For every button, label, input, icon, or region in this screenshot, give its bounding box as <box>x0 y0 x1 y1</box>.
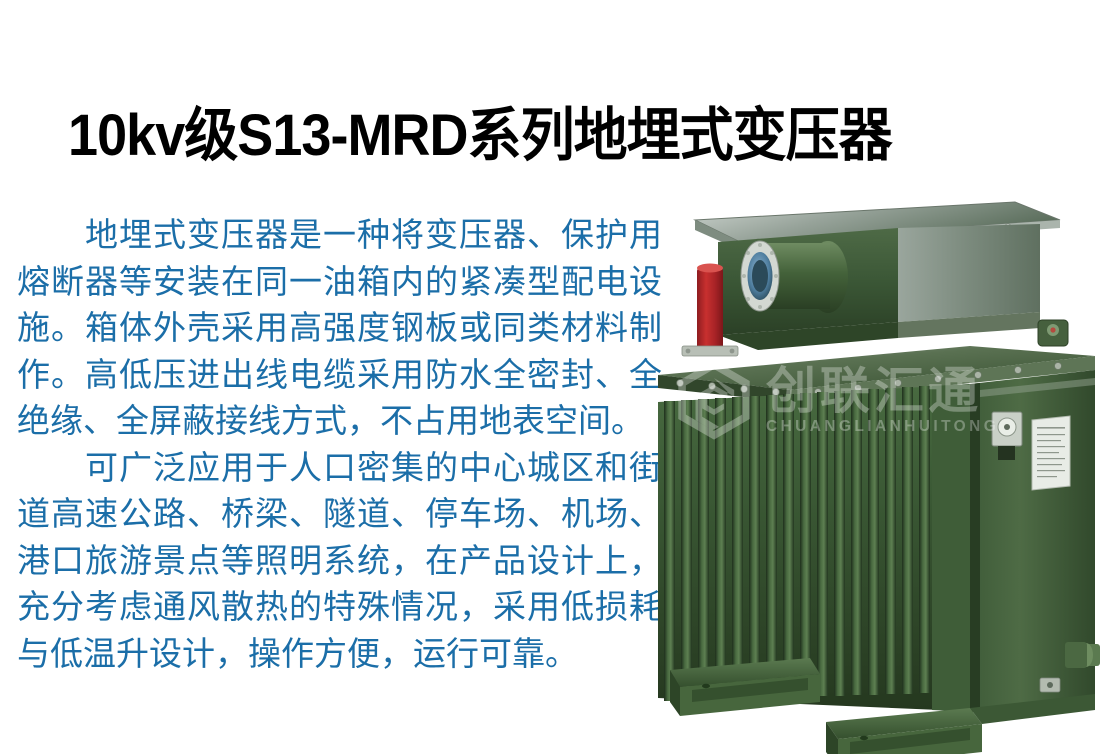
product-image <box>640 150 1100 754</box>
radiator-fin-wall <box>658 384 970 712</box>
top-cable-box <box>695 202 1060 350</box>
product-description: 地埋式变压器是一种将变压器、保护用熔断器等安装在同一油箱内的紧凑型配电设施。箱体… <box>17 212 662 677</box>
ground-lug <box>1040 678 1060 692</box>
transformer-illustration <box>640 150 1100 754</box>
description-paragraph-1: 地埋式变压器是一种将变压器、保护用熔断器等安装在同一油箱内的紧凑型配电设施。箱体… <box>17 212 662 445</box>
product-banner: 10kv级S13-MRD系列地埋式变压器 地埋式变压器是一种将变压器、保护用熔断… <box>0 0 1100 754</box>
drain-valve <box>1065 642 1100 668</box>
nameplate <box>1032 416 1070 490</box>
top-right-fitting <box>1038 320 1068 346</box>
cable-flange-nozzle <box>741 241 848 313</box>
description-paragraph-2: 可广泛应用于人口密集的中心城区和街道高速公路、桥梁、隧道、停车场、机场、港口旅游… <box>17 445 662 678</box>
base-skid-rear <box>826 708 982 754</box>
